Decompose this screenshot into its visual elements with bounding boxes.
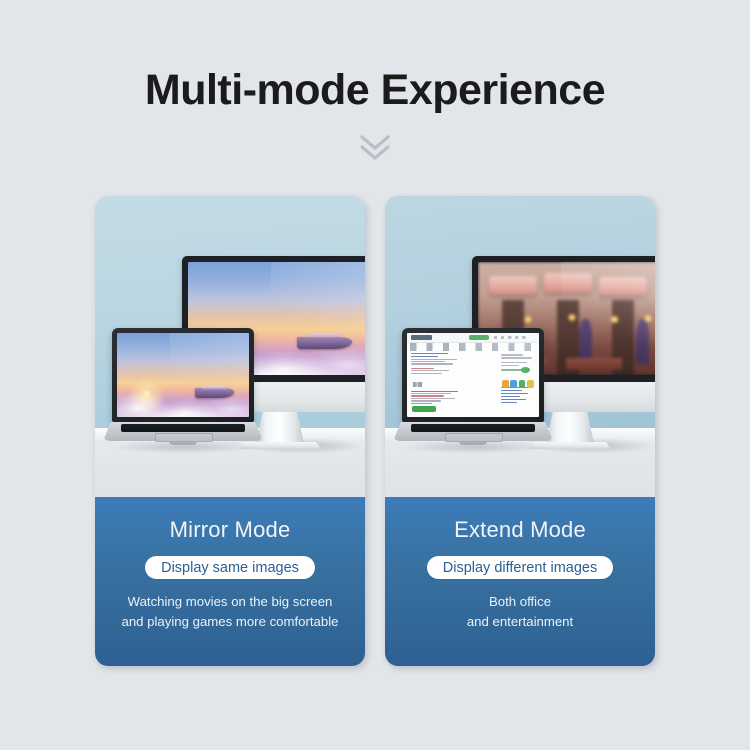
mode-cards: Mirror Mode Display same images Watching… xyxy=(0,196,750,668)
card-title: Mirror Mode xyxy=(95,517,365,543)
promo-page: Multi-mode Experience xyxy=(0,0,750,750)
screen-glare xyxy=(170,333,249,417)
laptop-lid xyxy=(112,328,254,422)
laptop-latch-notch xyxy=(169,441,197,445)
extend-footer: Extend Mode Display different images Bot… xyxy=(385,497,655,666)
scene-awning xyxy=(599,277,647,296)
card-mirror-mode[interactable]: Mirror Mode Display same images Watching… xyxy=(95,196,365,666)
screen-glare xyxy=(460,333,539,417)
extend-scene xyxy=(385,196,655,497)
scene-awning xyxy=(544,273,592,292)
sheet-left-column xyxy=(411,353,464,413)
scene-lamp xyxy=(610,316,618,323)
scene-lamp xyxy=(644,315,652,322)
mirror-footer: Mirror Mode Display same images Watching… xyxy=(95,497,365,666)
laptop-lid xyxy=(402,328,544,422)
description-line-1: Both office xyxy=(385,592,655,612)
description-line-2: and playing games more comfortable xyxy=(95,612,365,632)
laptop-screen xyxy=(407,333,539,417)
card-description: Watching movies on the big screen and pl… xyxy=(95,592,365,632)
laptop xyxy=(393,328,553,456)
scene-lamp xyxy=(524,316,532,323)
description-line-1: Watching movies on the big screen xyxy=(95,592,365,612)
card-extend-mode[interactable]: Extend Mode Display different images Bot… xyxy=(385,196,655,666)
laptop-latch-notch xyxy=(459,441,487,445)
scene-bench xyxy=(566,358,621,370)
laptop-screen xyxy=(117,333,249,417)
scene-figure xyxy=(579,319,592,364)
monitor-neck xyxy=(546,412,594,444)
header: Multi-mode Experience xyxy=(0,0,750,190)
card-title: Extend Mode xyxy=(385,517,655,543)
sheet-logo xyxy=(411,335,432,339)
card-pill-badge: Display same images xyxy=(145,556,315,579)
card-description: Both office and entertainment xyxy=(385,592,655,632)
laptop xyxy=(103,328,263,456)
monitor-neck xyxy=(256,412,304,444)
wallpaper-boat xyxy=(297,337,352,349)
description-line-2: and entertainment xyxy=(385,612,655,632)
page-title: Multi-mode Experience xyxy=(0,66,750,115)
scene-lamp xyxy=(568,314,576,321)
chevron-double-down-icon xyxy=(0,134,750,168)
laptop-keyboard xyxy=(121,424,245,432)
mirror-scene xyxy=(95,196,365,497)
scene-figure xyxy=(636,319,649,364)
sheet-chart-block xyxy=(413,382,422,387)
scene-awning xyxy=(489,276,537,295)
laptop-keyboard xyxy=(411,424,535,432)
card-pill-badge: Display different images xyxy=(427,556,613,579)
sheet-action-button xyxy=(412,406,436,412)
